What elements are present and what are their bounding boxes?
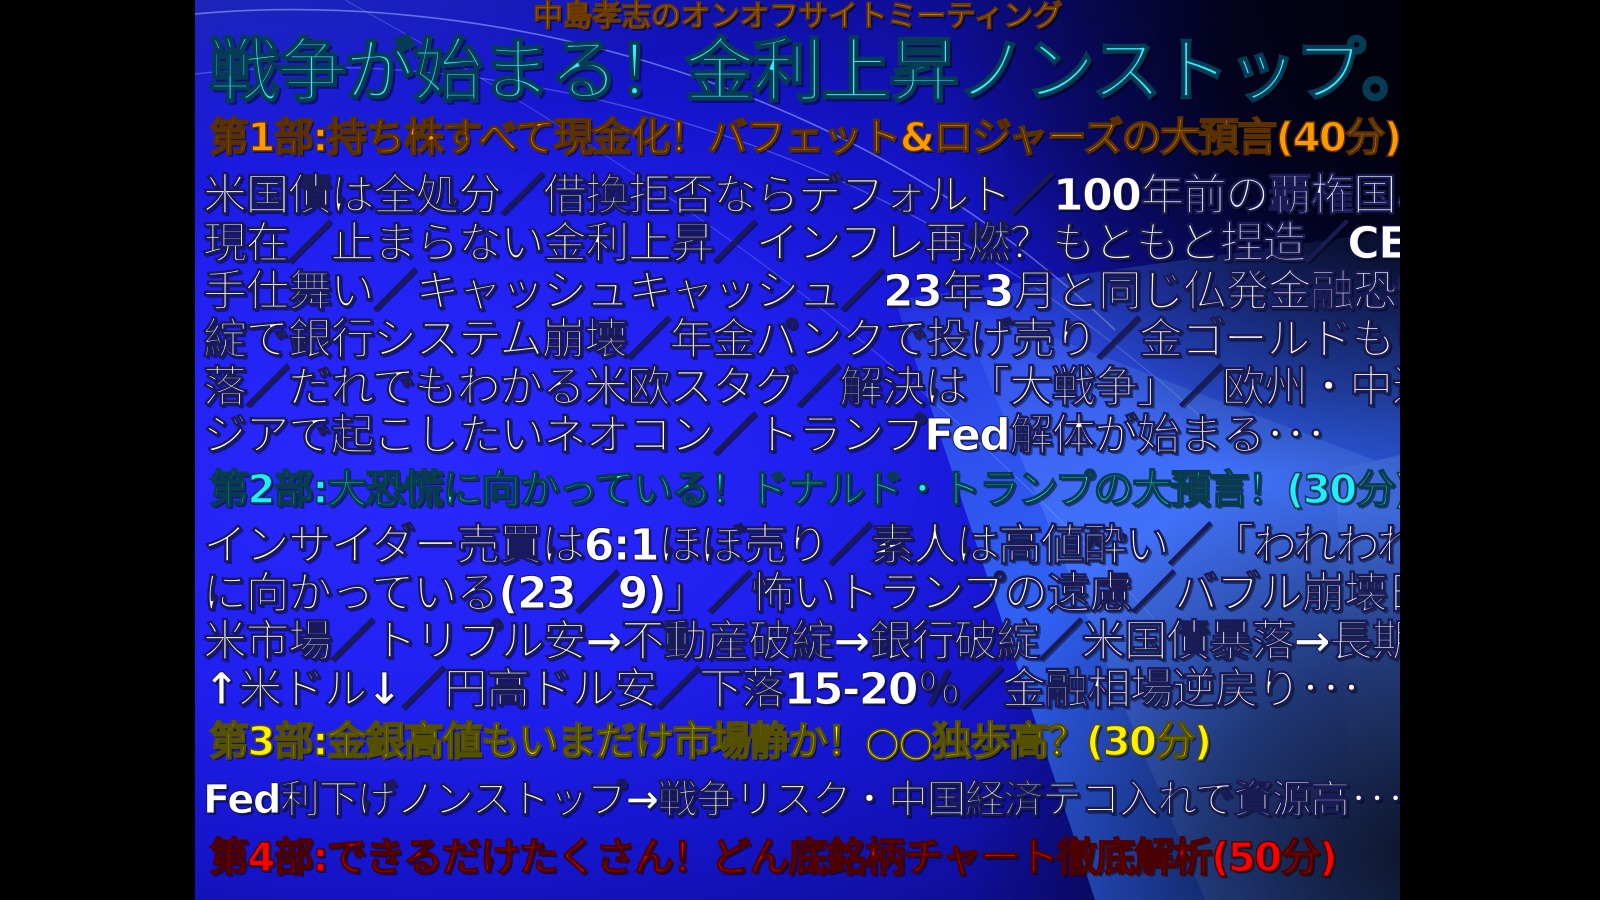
section-body-line: 綻で銀行システム崩壊／年金パンクで投げ売り／金ゴールドもいったん暴 bbox=[203, 318, 1400, 362]
section-body-line: 現在／止まらない金利上昇／インフレ再燃？もともと捏造／CEOたちの bbox=[203, 222, 1400, 266]
letterbox-left bbox=[0, 0, 195, 900]
section-body-line: 手仕舞い／キャッシュキャッシュ／23年3月と同じ仏発金融恐慌？／1社破 bbox=[203, 270, 1400, 314]
section-heading-part4: 第4部:できるだけたくさん！どん底銘柄チャート徹底解析(50分) bbox=[209, 838, 1336, 878]
section-body-line: 米国債は全処分／借換拒否ならデフォルト／100年前の覇権国みじめな bbox=[203, 174, 1400, 218]
section-body-line: ↑米ドル↓／円高ドル安／下落15‑20％／金融相場逆戻り･･･ bbox=[203, 668, 1361, 712]
section-body-line: 米市場／トリプル安→不動産破綻→銀行破綻／米国債暴落→長期金利 bbox=[203, 620, 1400, 664]
section-body-line: Fed利下げノンストップ→戦争リスク・中国経済テコ入れで資源高･･･ bbox=[203, 780, 1400, 820]
section-heading-part1: 第1部:持ち株すべて現金化！バフェット&ロジャーズの大預言(40分) bbox=[209, 118, 1400, 158]
section-heading-part2: 第2部:大恐慌に向かっている！ドナルド・トランプの大預言！(30分) bbox=[209, 470, 1400, 510]
slide-stage: 中島孝志のオンオフサイトミーティング 戦争が始まる！金利上昇ノンストップ。 第1… bbox=[0, 0, 1600, 900]
main-title: 戦争が始まる！金利上昇ノンストップ。 bbox=[209, 36, 1400, 106]
slide-canvas: 中島孝志のオンオフサイトミーティング 戦争が始まる！金利上昇ノンストップ。 第1… bbox=[195, 0, 1400, 900]
section-body-line: ジアで起こしたいネオコン／トランプFed解体が始まる･･･ bbox=[203, 414, 1326, 458]
section-heading-part3: 第3部:金銀高値もいまだけ市場静か！○○独歩高？(30分) bbox=[209, 722, 1211, 762]
section-body-line: インサイダー売買は6:1ほぼ売り／素人は高値酔い／「われわれは大恐慌 bbox=[203, 524, 1400, 568]
section-body-line: 落／だれでもわかる米欧スタグ／解決は「大戦争」／欧州・中近東・東ア bbox=[203, 366, 1400, 410]
slide-content: 中島孝志のオンオフサイトミーティング 戦争が始まる！金利上昇ノンストップ。 第1… bbox=[195, 0, 1400, 900]
section-body-line: に向かっている(23／9)」／怖いトランプの遠慮／バブル崩壊日本なぞる bbox=[203, 572, 1400, 616]
program-title: 中島孝志のオンオフサイトミーティング bbox=[195, 2, 1400, 32]
letterbox-right bbox=[1400, 0, 1600, 900]
